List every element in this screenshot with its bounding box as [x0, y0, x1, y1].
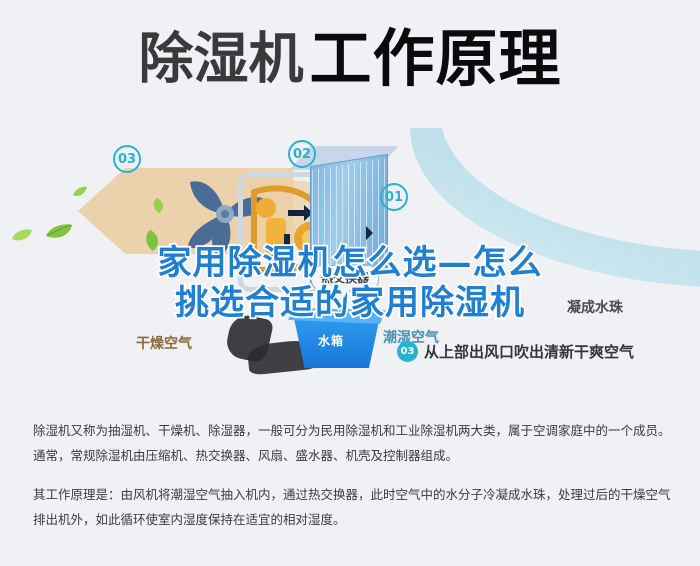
leaf-icon	[44, 222, 74, 242]
overlay-headline-line2: 挑选合适的家用除湿机	[0, 283, 700, 323]
arrow-into-exchanger-icon	[352, 224, 374, 242]
page-title-part-a: 除湿机	[138, 27, 303, 91]
dry-air-label: 干燥空气	[136, 333, 192, 353]
badge-01: 01	[380, 183, 408, 211]
water-tank-label: 水箱	[318, 332, 344, 349]
leaf-icon	[152, 198, 166, 214]
body-paragraph-2: 其工作原理是：由风机将潮湿空气抽入机内，通过热交换器，此时空气中的水分子冷凝成水…	[33, 482, 673, 532]
bottom-note-text: 从上部出风口吹出清新干爽空气	[424, 341, 634, 362]
page-title-part-b: 工作原理	[310, 22, 562, 95]
overlay-headline: 家用除湿机怎么选—怎么 挑选合适的家用除湿机	[0, 243, 700, 323]
body-text: 除湿机又称为抽湿机、干燥机、除湿器，一般可分为民用除湿机和工业除湿机两大类，属于…	[33, 418, 673, 546]
page-title: 除湿机工作原理	[0, 28, 700, 90]
body-paragraph-1: 除湿机又称为抽湿机、干燥机、除湿器，一般可分为民用除湿机和工业除湿机两大类，属于…	[33, 418, 673, 468]
badge-03: 03	[113, 145, 141, 173]
infographic-page: 除湿机工作原理	[0, 0, 700, 566]
leaf-icon	[72, 186, 88, 198]
overlay-headline-line1: 家用除湿机怎么选—怎么	[158, 243, 543, 283]
badge-02: 02	[288, 140, 316, 168]
badge-03-bottom: 03	[397, 341, 418, 362]
leaf-icon	[11, 228, 33, 243]
bottom-note: 03 从上部出风口吹出清新干爽空气	[397, 341, 634, 362]
